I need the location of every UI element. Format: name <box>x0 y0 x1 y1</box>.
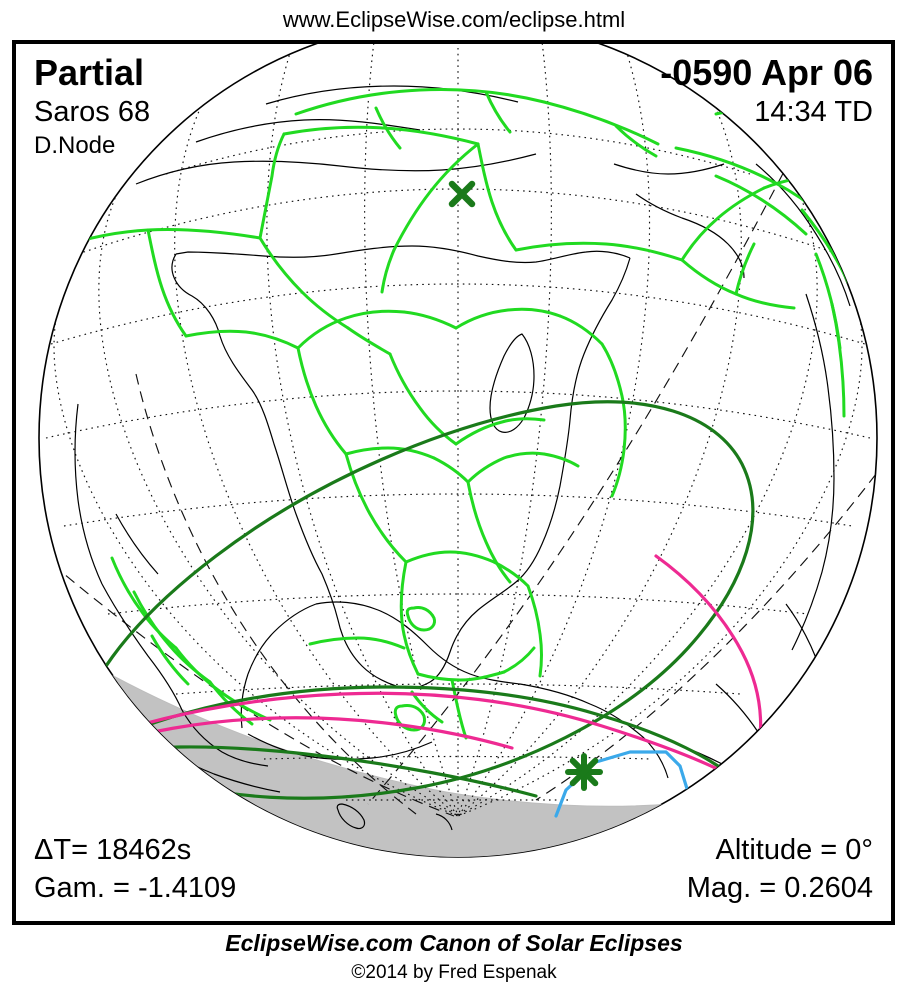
footer: EclipseWise.com Canon of Solar Eclipses … <box>0 928 908 986</box>
eclipse-chart-frame: Partial Saros 68 D.Node -0590 Apr 06 14:… <box>12 40 895 925</box>
source-url-bar: www.EclipseWise.com/eclipse.html <box>0 0 908 40</box>
eclipse-map-page: www.EclipseWise.com/eclipse.html <box>0 0 908 1004</box>
footer-copyright: ©2014 by Fred Espenak <box>0 960 908 986</box>
node-label: D.Node <box>34 130 150 162</box>
eclipse-chart-inner: Partial Saros 68 D.Node -0590 Apr 06 14:… <box>16 44 891 921</box>
orthographic-globe-svg <box>16 44 891 921</box>
footer-title: EclipseWise.com Canon of Solar Eclipses <box>0 928 908 958</box>
eclipse-type: Partial <box>34 52 150 94</box>
delta-t-block: ΔT= 18462s Gam. = -1.4109 <box>34 831 236 907</box>
altitude-magnitude-block: Altitude = 0° Mag. = 0.2604 <box>687 831 873 907</box>
magnitude-value: Mag. = 0.2604 <box>687 869 873 907</box>
globe-map <box>16 44 891 921</box>
greatest-eclipse-marker <box>568 756 600 788</box>
eclipse-type-block: Partial Saros 68 D.Node <box>34 52 150 162</box>
delta-t-value: ΔT= 18462s <box>34 831 236 869</box>
source-url: www.EclipseWise.com/eclipse.html <box>283 7 625 33</box>
eclipse-date-block: -0590 Apr 06 14:34 TD <box>660 52 873 130</box>
eclipse-date: -0590 Apr 06 <box>660 52 873 94</box>
saros-label: Saros 68 <box>34 94 150 130</box>
altitude-value: Altitude = 0° <box>687 831 873 869</box>
gamma-value: Gam. = -1.4109 <box>34 869 236 907</box>
eclipse-time: 14:34 TD <box>660 94 873 130</box>
